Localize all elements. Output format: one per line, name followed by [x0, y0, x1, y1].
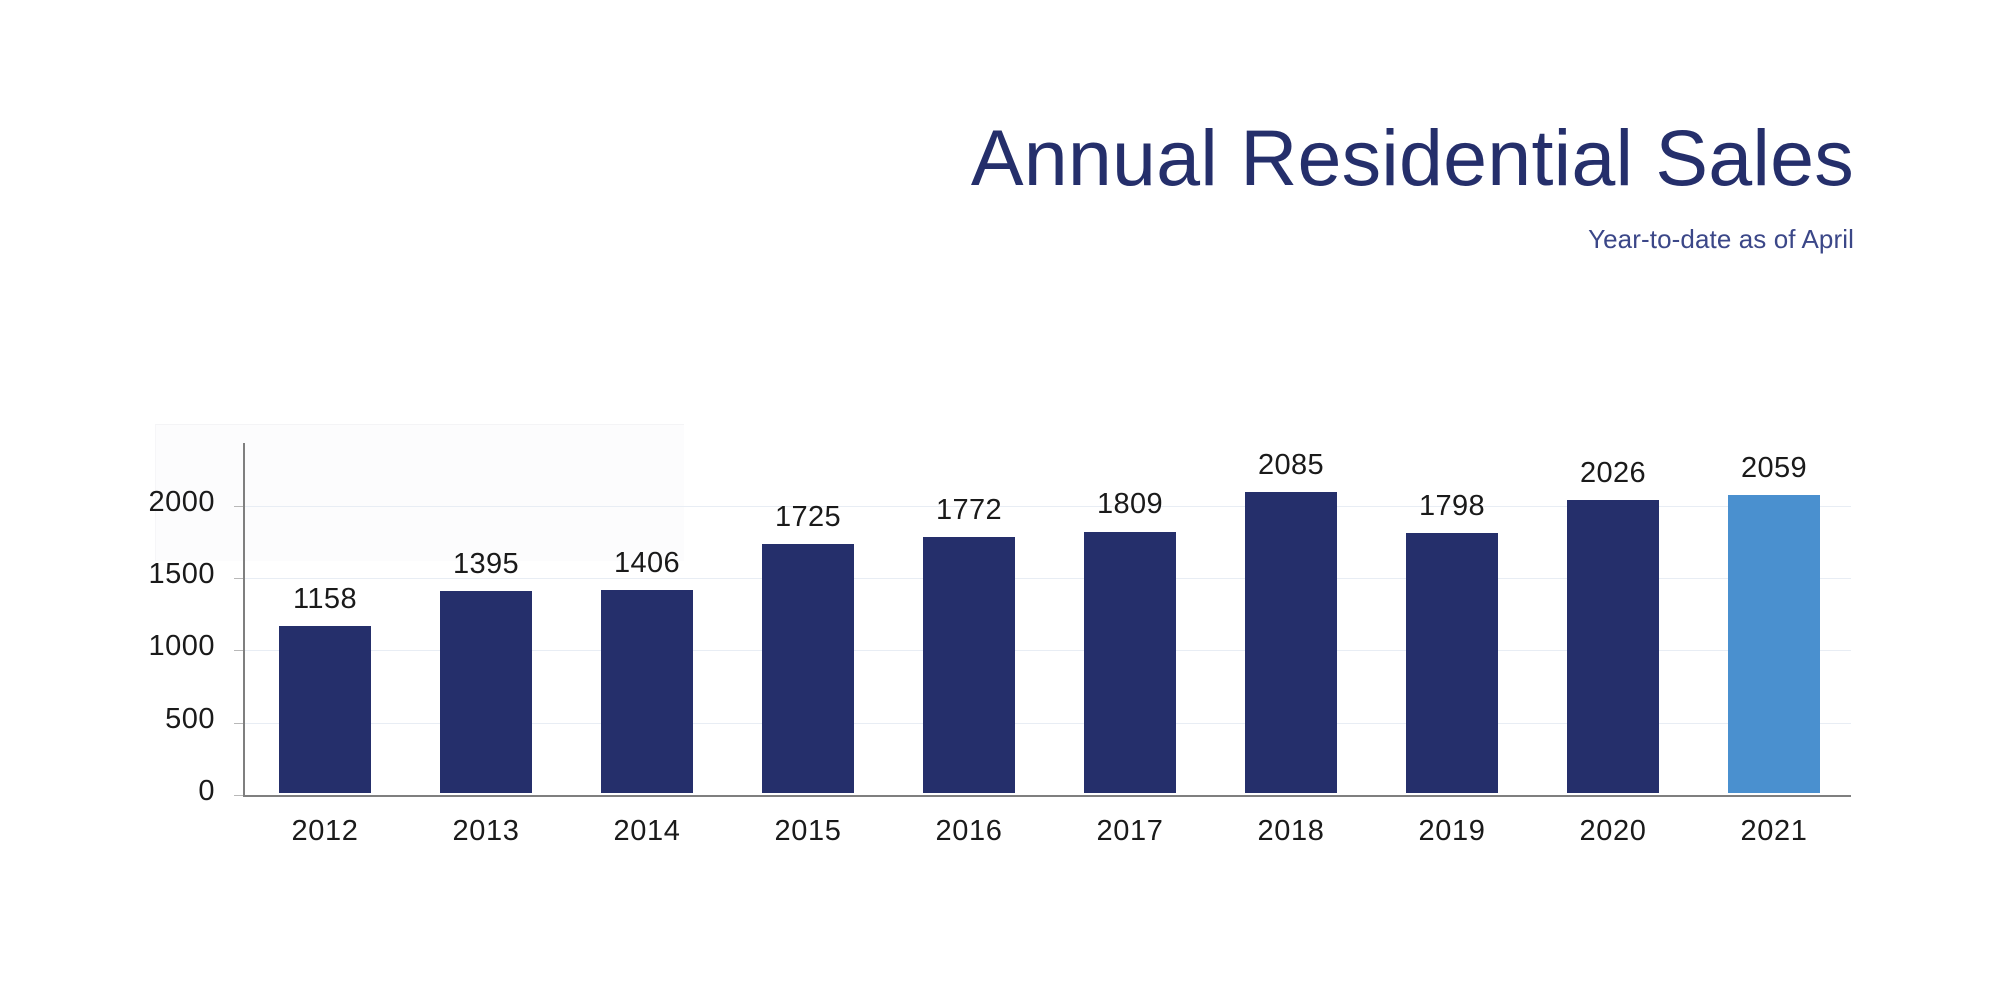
chart-subtitle: Year-to-date as of April [354, 226, 1854, 252]
x-axis-tick-label: 2020 [1527, 815, 1699, 848]
x-axis-line [243, 795, 1851, 797]
plot-area: 0500100015002000 11581395140617251772180… [243, 443, 1851, 797]
y-axis-tick-label: 0 [55, 775, 215, 808]
bar-value-label: 2085 [1205, 449, 1377, 482]
chart-header: Annual Residential Sales Year-to-date as… [354, 118, 1854, 252]
bar[interactable] [1084, 532, 1176, 794]
bar[interactable] [762, 544, 854, 793]
x-axis-tick-label: 2012 [239, 815, 411, 848]
bar-value-label: 1809 [1044, 488, 1216, 521]
bar-value-label: 1158 [239, 583, 411, 616]
bar[interactable] [279, 626, 371, 793]
x-axis-tick-label: 2016 [883, 815, 1055, 848]
x-axis-tick-label: 2017 [1044, 815, 1216, 848]
bar[interactable] [1406, 533, 1498, 793]
y-axis-tick-mark [234, 723, 243, 724]
x-axis-tick-label: 2015 [722, 815, 894, 848]
bar-value-label: 1406 [561, 547, 733, 580]
bar-value-label: 2059 [1688, 452, 1860, 485]
bar-value-label: 1772 [883, 494, 1055, 527]
y-axis-tick-mark [234, 578, 243, 579]
bar-value-label: 2026 [1527, 457, 1699, 490]
bar[interactable] [923, 537, 1015, 793]
x-axis-tick-labels: 2012201320142015201620172018201920202021 [243, 815, 1851, 861]
y-axis-tick-mark [234, 650, 243, 651]
x-axis-tick-label: 2021 [1688, 815, 1860, 848]
y-axis-tick-mark [234, 795, 243, 796]
bar-value-label: 1725 [722, 501, 894, 534]
x-axis-tick-label: 2018 [1205, 815, 1377, 848]
bar-value-label: 1395 [400, 548, 572, 581]
x-axis-tick-label: 2019 [1366, 815, 1538, 848]
x-axis-tick-label: 2013 [400, 815, 572, 848]
page-title: Annual Residential Sales [354, 118, 1854, 197]
y-axis-tick-label: 2000 [55, 486, 215, 519]
bar[interactable] [1567, 500, 1659, 793]
x-axis-tick-label: 2014 [561, 815, 733, 848]
chart-canvas: Annual Residential Sales Year-to-date as… [0, 0, 2000, 1000]
y-axis-tick-label: 1000 [55, 630, 215, 663]
bar[interactable] [1245, 492, 1337, 793]
y-axis-tick-label: 1500 [55, 558, 215, 591]
y-axis-tick-mark [234, 506, 243, 507]
bar[interactable] [1728, 495, 1820, 793]
bars-group: 1158139514061725177218092085179820262059 [243, 443, 1851, 795]
bar-value-label: 1798 [1366, 490, 1538, 523]
bar[interactable] [440, 591, 532, 793]
y-axis-tick-label: 500 [55, 703, 215, 736]
bar[interactable] [601, 590, 693, 793]
